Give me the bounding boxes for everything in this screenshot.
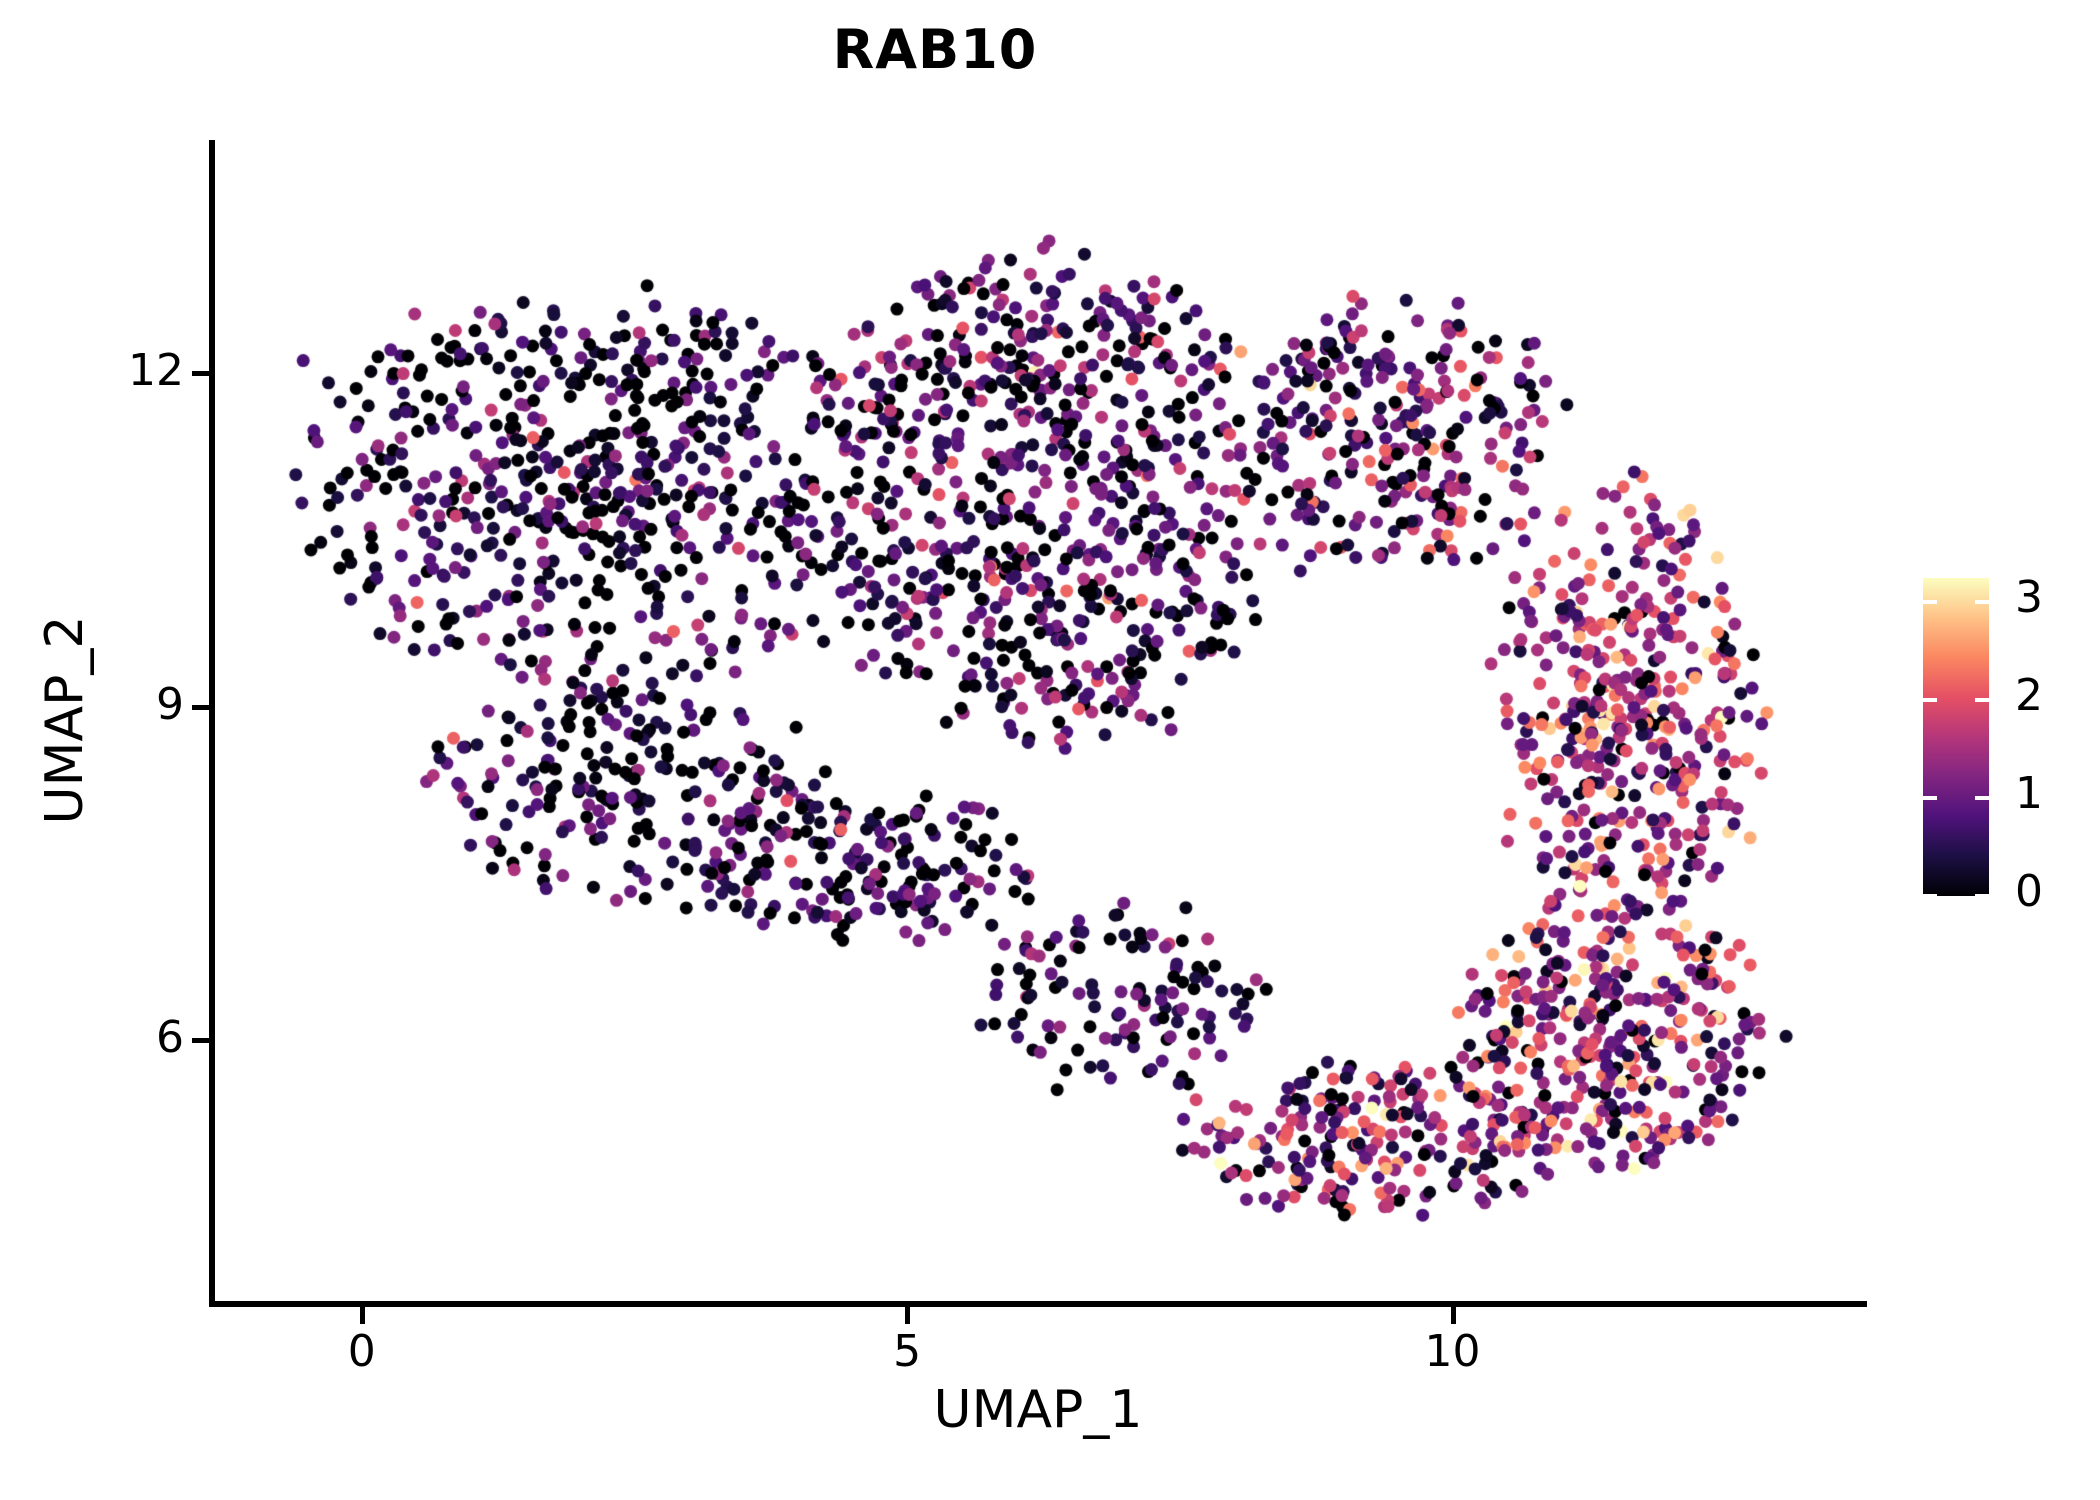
colorbar-tick-mark [1975,698,1989,702]
x-tick-mark [1451,1307,1456,1324]
x-axis-spine [209,1301,1867,1307]
plot-axes: 0510 6912 [209,140,1867,1307]
x-tick-mark [360,1307,365,1324]
umap-feature-plot-figure: RAB10 0510 6912 UMAP_1 UMAP_2 0123 [0,0,2100,1500]
scatter-points-canvas [209,140,1867,1307]
colorbar-tick-mark [1975,796,1989,800]
y-tick-mark [192,371,209,376]
colorbar-tick-mark [1923,698,1937,702]
colorbar-gradient [1923,578,1989,896]
colorbar-tick-mark [1923,894,1937,898]
colorbar-tick-mark [1923,600,1937,604]
x-tick-label: 10 [1373,1326,1533,1377]
colorbar-tick-label: 0 [2015,870,2043,914]
y-tick-label: 9 [99,679,184,730]
y-tick-mark [192,1038,209,1043]
page-title: RAB10 [0,18,1870,81]
x-tick-mark [905,1307,910,1324]
colorbar-tick-label: 1 [2015,772,2043,816]
colorbar-tick-mark [1923,796,1937,800]
y-axis-label: UMAP_2 [35,400,95,1040]
y-tick-label: 6 [99,1012,184,1063]
y-tick-label: 12 [99,345,184,396]
y-tick-mark [192,705,209,710]
x-axis-label: UMAP_1 [209,1380,1867,1440]
colorbar-tick-mark [1975,894,1989,898]
y-axis-spine [209,140,215,1307]
x-tick-label: 0 [282,1326,442,1377]
colorbar-legend: 0123 [1923,578,2093,898]
colorbar-tick-label: 2 [2015,674,2043,718]
x-tick-label: 5 [827,1326,987,1377]
colorbar-tick-mark [1975,600,1989,604]
colorbar-tick-label: 3 [2015,576,2043,620]
